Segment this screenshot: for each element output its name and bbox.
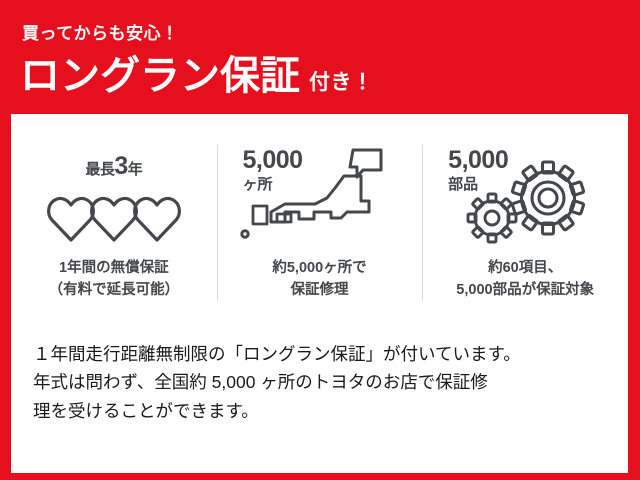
header-main: ロングラン保証 付き！ <box>20 56 374 96</box>
feature-warranty-period: 最長3年 1年間の無償保証 （有料で延長可能） <box>11 142 217 324</box>
feature-covered-parts: 5,000 部品 <box>422 142 628 324</box>
body-description: １年間走行距離無制限の「ロングラン保証」が付いています。 年式は問わず、全国約 … <box>33 340 613 425</box>
japan-map-icon <box>237 146 407 246</box>
feature-caption-covered-parts: 約60項目、 5,000部品が保証対象 <box>456 258 594 302</box>
feature-columns: 最長3年 1年間の無償保証 （有料で延長可能） <box>11 142 628 324</box>
body-line-2: 年式は問わず、全国約 5,000 ヶ所のトヨタのお店で保証修 <box>33 368 613 396</box>
header-suffix: 付き！ <box>309 72 374 93</box>
feature-visual-gears: 5,000 部品 <box>430 142 620 248</box>
longrun-warranty-banner: 買ってからも安心！ ロングラン保証 付き！ 最長3年 <box>0 0 640 480</box>
stat-warranty-period: 最長3年 <box>19 154 209 179</box>
caption-line-1: 約5,000ヶ所で <box>272 258 366 280</box>
caption-line-2: 保証修理 <box>272 280 366 302</box>
banner-header: 買ってからも安心！ ロングラン保証 付き！ <box>0 0 640 114</box>
content-panel: 最長3年 1年間の無償保証 （有料で延長可能） <box>11 114 628 473</box>
feature-caption-service-locations: 約5,000ヶ所で 保証修理 <box>272 258 366 302</box>
header-title: ロングラン保証 <box>20 56 300 96</box>
caption-line-1: 約60項目、 <box>456 258 594 280</box>
three-hearts-icon <box>46 186 182 244</box>
body-line-3: 理を受けることができます。 <box>33 397 613 425</box>
feature-visual-hearts: 最長3年 <box>19 142 209 248</box>
stat-prefix: 最長 <box>85 161 114 178</box>
header-kicker: 買ってからも安心！ <box>22 25 179 42</box>
feature-caption-warranty-period: 1年間の無償保証 （有料で延長可能） <box>49 258 180 302</box>
caption-line-2: （有料で延長可能） <box>49 280 180 302</box>
stat-suffix: 年 <box>128 161 143 178</box>
caption-line-1: 1年間の無償保証 <box>49 258 180 280</box>
caption-line-2: 5,000部品が保証対象 <box>456 280 594 302</box>
gears-icon <box>460 156 600 248</box>
feature-visual-japan-map: 5,000 ヶ所 <box>225 142 415 248</box>
stat-number: 3 <box>114 152 127 180</box>
body-line-1: １年間走行距離無制限の「ロングラン保証」が付いています。 <box>33 340 613 368</box>
feature-service-locations: 5,000 ヶ所 <box>217 142 423 324</box>
